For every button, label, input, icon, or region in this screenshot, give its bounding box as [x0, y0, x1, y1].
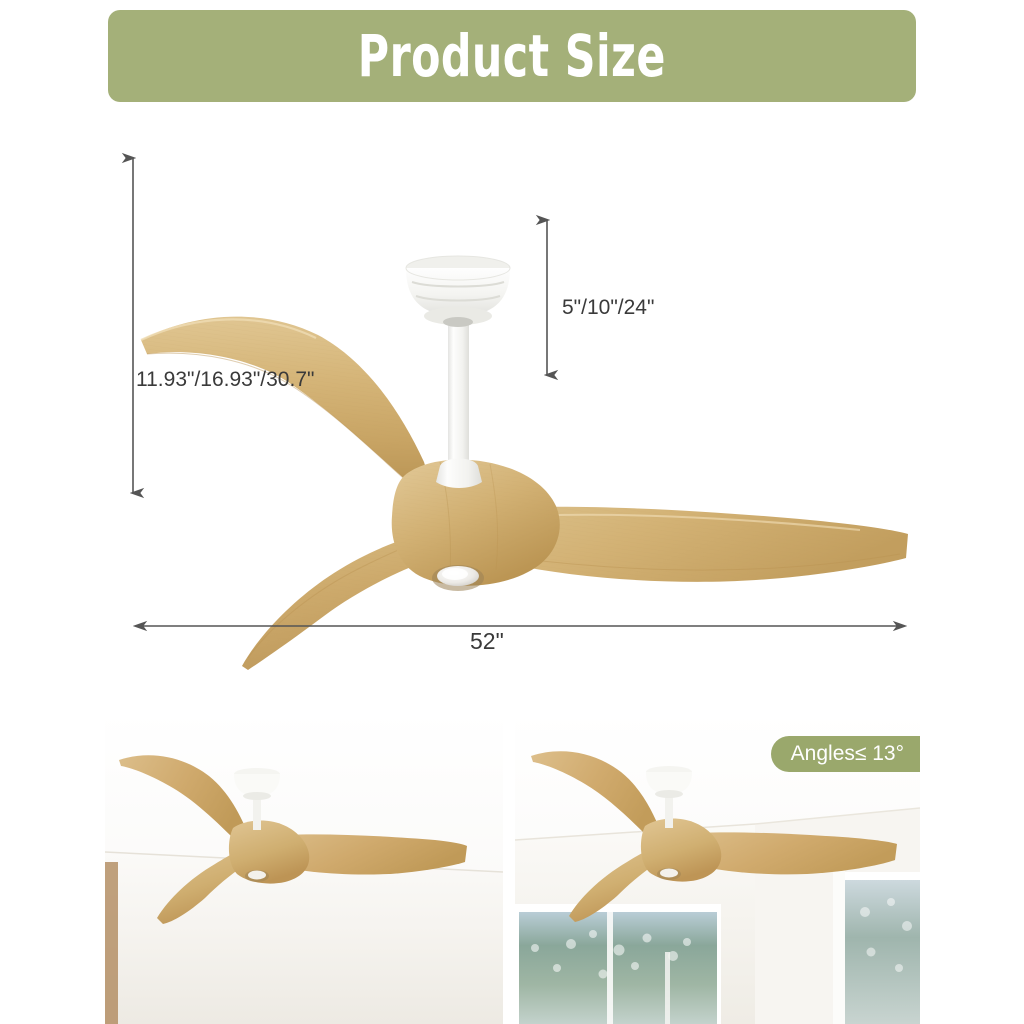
fan-illustration	[141, 256, 908, 670]
product-photo-row: Angles≤ 13°	[0, 712, 1024, 1024]
fan-downrod	[436, 322, 482, 488]
ceiling-canopy	[406, 256, 510, 327]
fan-light-disc	[432, 565, 484, 591]
wall-surface	[105, 852, 503, 1024]
header-banner: Product Size	[108, 10, 916, 102]
product-dimension-diagram: 11.93"/16.93"/30.7" 5"/10"/24" 52"	[0, 110, 1024, 690]
dimension-label-height: 11.93"/16.93"/30.7"	[136, 368, 314, 392]
angles-badge: Angles≤ 13°	[771, 736, 920, 772]
photo-fan-white-wall[interactable]	[105, 712, 503, 1024]
page-title: Product Size	[358, 22, 666, 90]
wall-trim	[105, 862, 118, 1024]
fan-blade-upper-left	[141, 317, 430, 484]
angles-badge-label: Angles≤ 13°	[791, 742, 904, 766]
fan-blade-lower-left	[242, 534, 424, 670]
window-right	[833, 868, 920, 1024]
window-left	[515, 904, 721, 1024]
dimension-label-width: 52"	[470, 628, 504, 655]
dimension-label-downrod: 5"/10"/24"	[562, 296, 654, 320]
photo-fan-window-room[interactable]: Angles≤ 13°	[515, 712, 920, 1024]
